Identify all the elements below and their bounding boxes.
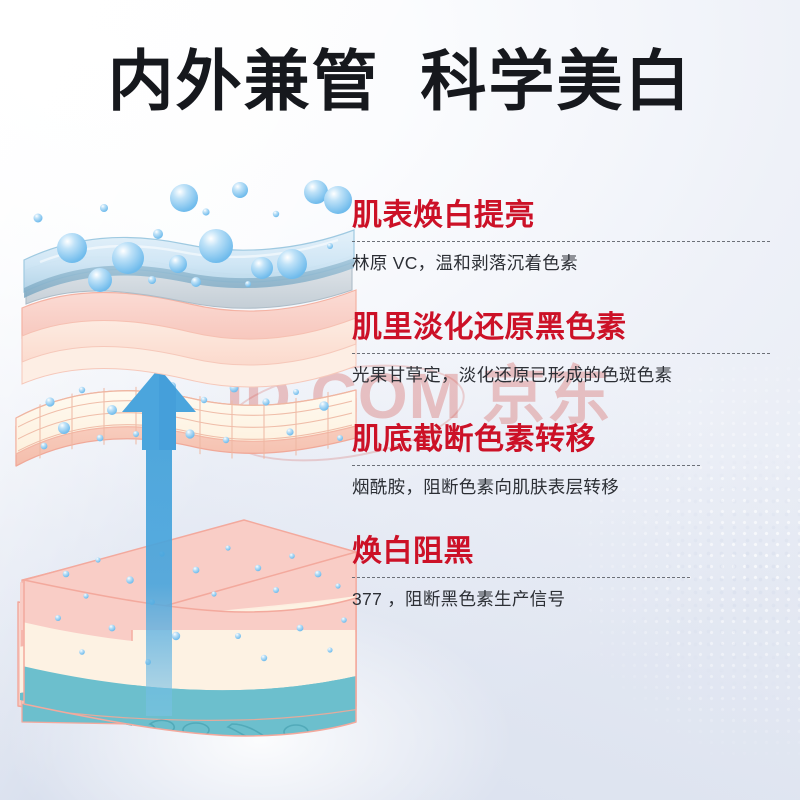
benefit-subtext: 377 ，阻断黑色素生产信号 — [352, 586, 782, 612]
benefit-subtext: 林原 VC，温和剥落沉着色素 — [352, 250, 782, 276]
benefit-heading: 肌表焕白提亮 — [352, 196, 782, 236]
epidermis-mesh-sheet — [16, 380, 356, 468]
benefit-heading: 肌里淡化还原黑色素 — [352, 308, 782, 348]
benefit-heading: 肌底截断色素转移 — [352, 420, 782, 460]
benefit-blocks: 肌表焕白提亮 林原 VC，温和剥落沉着色素 肌里淡化还原黑色素 光果甘草定，淡化… — [352, 196, 782, 644]
benefit-subtext: 烟酰胺，阻断色素向肌肤表层转移 — [352, 474, 782, 500]
poster-root: 内外兼管 科学美白 JD.COM 京东 — [0, 0, 800, 800]
skin-layers-illustration — [0, 150, 380, 750]
benefit-block-whitening-blocking: 焕白阻黑 377 ，阻断黑色素生产信号 — [352, 532, 782, 612]
page-title: 内外兼管 科学美白 — [0, 48, 800, 114]
divider-dashed — [352, 465, 700, 466]
skin-diagram-svg — [0, 150, 380, 750]
benefit-block-surface-brightening: 肌表焕白提亮 林原 VC，温和剥落沉着色素 — [352, 196, 782, 276]
papillary-layers — [22, 290, 356, 387]
benefit-heading: 焕白阻黑 — [352, 532, 782, 572]
benefit-block-basal-transfer-block: 肌底截断色素转移 烟酰胺，阻断色素向肌肤表层转移 — [352, 420, 782, 500]
divider-dashed — [352, 577, 690, 578]
divider-dashed — [352, 241, 770, 242]
benefit-block-inner-melanin-reduction: 肌里淡化还原黑色素 光果甘草定，淡化还原已形成的色斑色素 — [352, 308, 782, 388]
benefit-subtext: 光果甘草定，淡化还原已形成的色斑色素 — [352, 362, 782, 388]
divider-dashed — [352, 353, 770, 354]
